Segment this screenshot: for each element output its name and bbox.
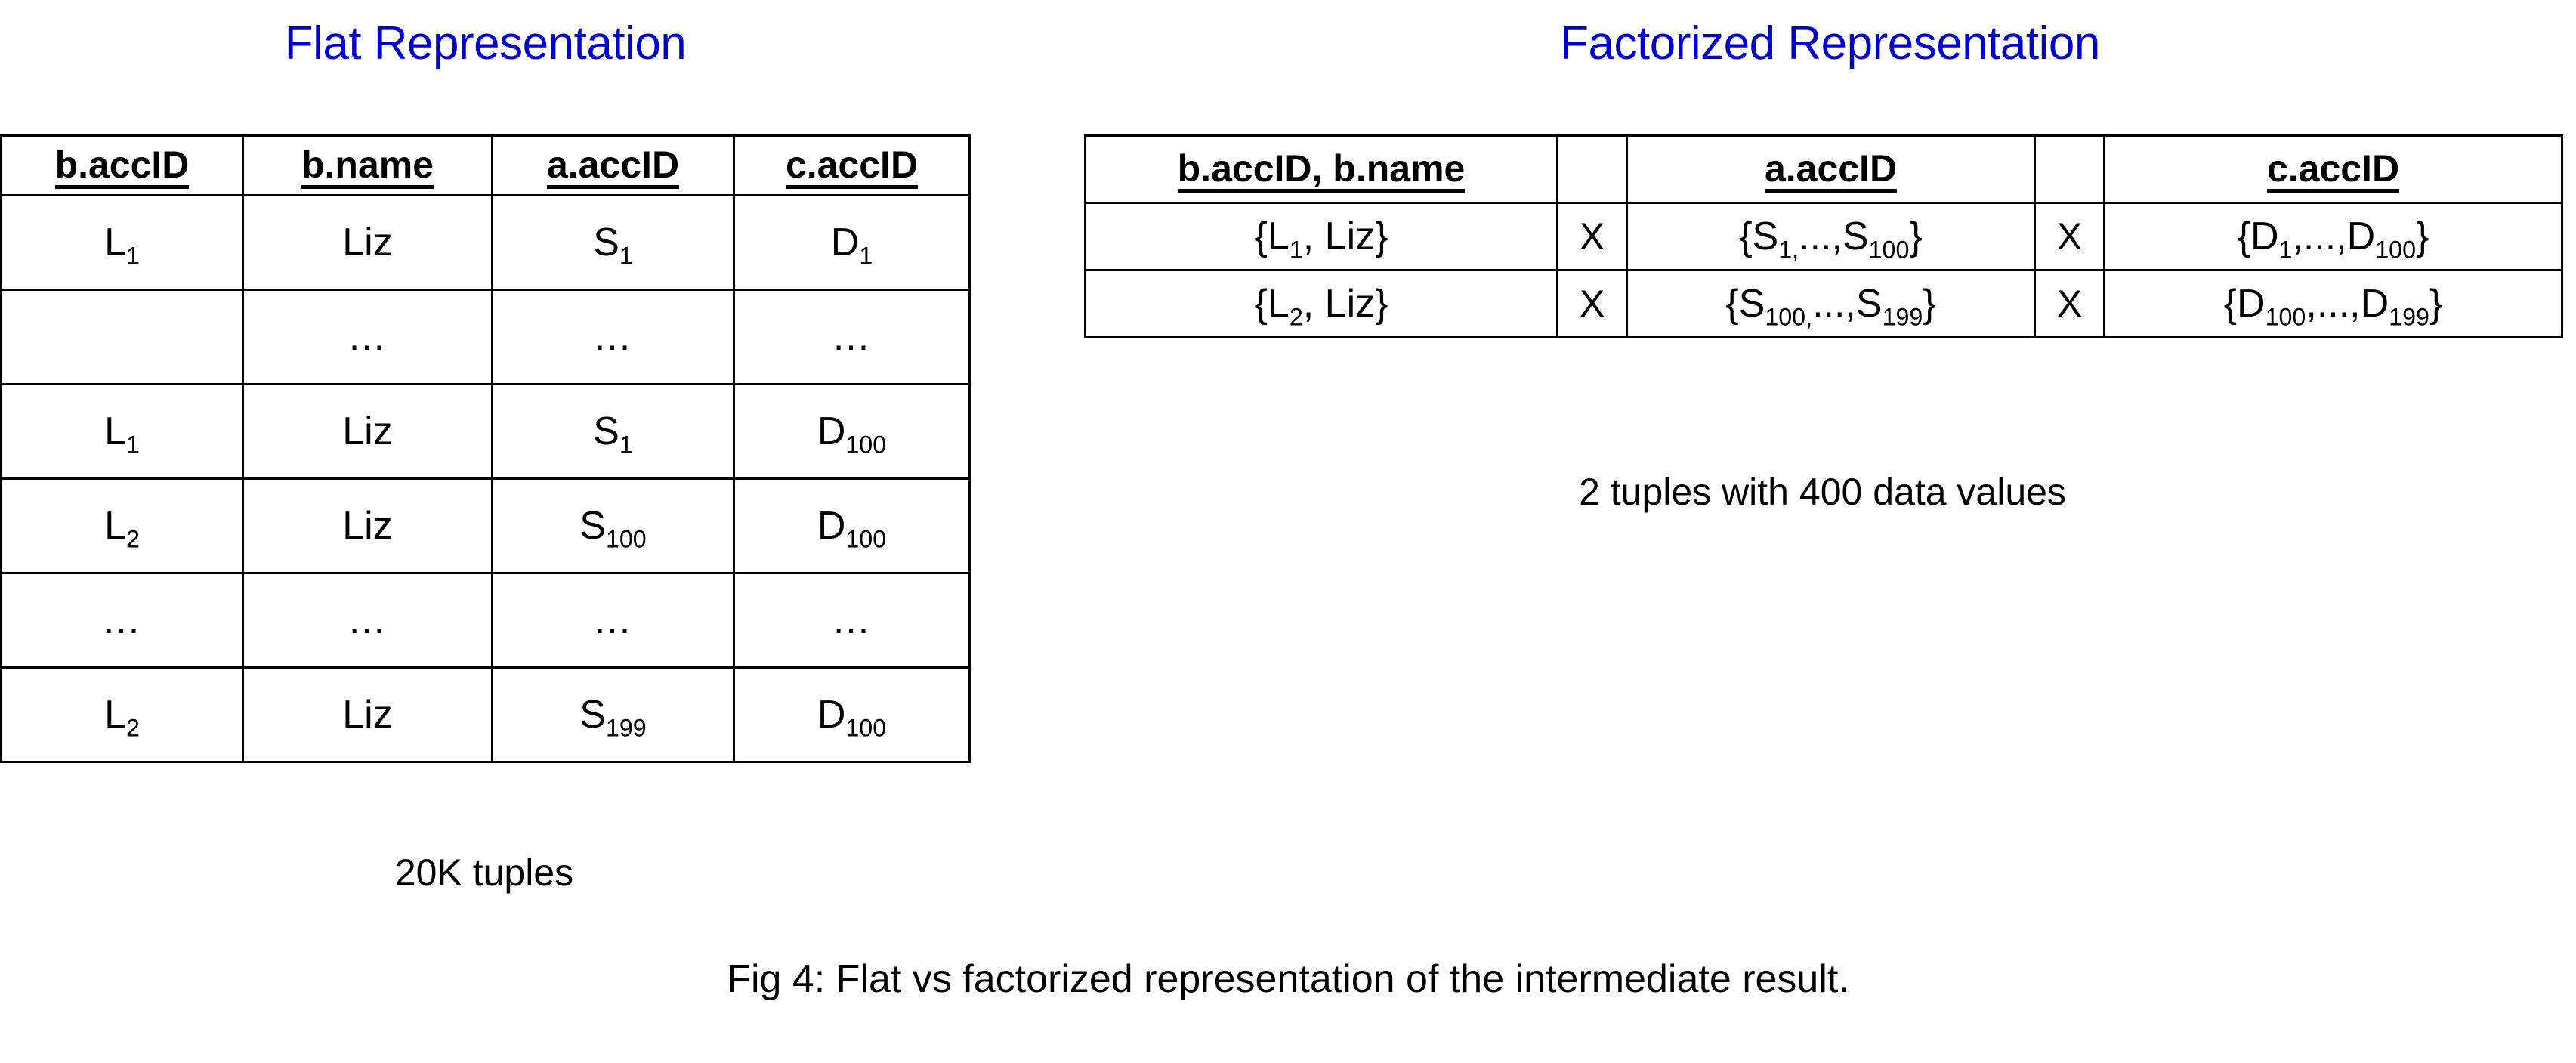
column-header-c-accid: c.accID (734, 136, 970, 196)
cell-b-accid: L2 (2, 668, 243, 762)
table-header-row: b.accID b.name a.accID c.accID (2, 136, 970, 196)
cell-base: D (817, 504, 846, 548)
table-row: ... ... ... (2, 290, 970, 385)
column-header-b-accid: b.accID (2, 136, 243, 196)
cell-subscript: 1 (619, 431, 633, 458)
cross-product-symbol: X (1580, 283, 1605, 325)
cell-b-accid: ... (2, 573, 243, 668)
cell-base: S (593, 221, 619, 264)
cell-subscript: 1 (1290, 236, 1303, 263)
column-header-label: a.accID (547, 146, 679, 189)
cell-c-accid: D1 (734, 196, 970, 290)
cell-base: Liz (342, 693, 392, 737)
factorized-representation-title: Factorized Representation (1084, 17, 2576, 70)
flat-tuple-count-label: 20K tuples (0, 851, 968, 895)
cell-tail: } (2429, 282, 2442, 326)
column-header-label: c.accID (2267, 150, 2399, 193)
cell-subscript: 1 (619, 242, 633, 269)
cell-tail: , Liz} (1303, 282, 1388, 326)
cell-product-operator: X (2035, 203, 2105, 270)
cell-subscript: 199 (606, 714, 647, 741)
column-header-label: b.accID, b.name (1178, 150, 1466, 193)
cell-base: ... (349, 315, 386, 359)
table-row: L2 Liz S100 D100 (2, 479, 970, 573)
cell-b-name: Liz (243, 385, 493, 479)
table-row: L1 Liz S1 D100 (2, 385, 970, 479)
cell-base: S (593, 409, 619, 453)
table-row: {L1, Liz} X {S1,...,S100} X {D1,...,D100… (1086, 203, 2562, 270)
cell-c-set: {D100,...,D199} (2105, 270, 2562, 338)
cell-base: ... (833, 598, 870, 642)
cell-base: S (579, 693, 606, 737)
cell-c-accid: D100 (734, 668, 970, 762)
cell-subscript: 1 (126, 431, 140, 458)
cell-a-accid: S100 (493, 479, 734, 573)
cell-base: D (831, 221, 860, 264)
cell-a-accid: ... (493, 573, 734, 668)
cell-a-accid: S1 (493, 196, 734, 290)
figure-root: Flat Representation b.accID b.name a.acc… (0, 0, 2576, 1063)
cross-product-symbol: X (2057, 283, 2082, 325)
cell-base: ... (349, 598, 386, 642)
cell-product-operator: X (2035, 270, 2105, 338)
table-row: L1 Liz S1 D1 (2, 196, 970, 290)
flat-representation-title: Flat Representation (0, 17, 971, 70)
cell-mid: ...,S (1799, 215, 1868, 258)
table-header-row: b.accID, b.name a.accID c.accID (1086, 136, 2562, 203)
cell-base: Liz (342, 409, 392, 453)
cell-base: {L (1255, 282, 1290, 326)
cross-product-symbol: X (1580, 215, 1605, 258)
cell-b-name: Liz (243, 479, 493, 573)
cell-base: Liz (342, 221, 392, 264)
figure-caption: Fig 4: Flat vs factorized representation… (0, 956, 2576, 1002)
cell-product-operator: X (1558, 270, 1627, 338)
cell-b-accid (2, 290, 243, 385)
cell-mid: ...,S (1812, 282, 1882, 326)
cell-c-set: {D1,...,D100} (2105, 203, 2562, 270)
cell-base: ... (595, 315, 632, 359)
cell-base: D (817, 409, 846, 453)
cell-subscript: 199 (1883, 303, 1923, 330)
cell-a-accid: S199 (493, 668, 734, 762)
cell-base: L (104, 221, 126, 264)
column-header-a-accid: a.accID (1627, 136, 2035, 203)
cell-product-operator: X (1558, 203, 1627, 270)
cell-base: Liz (342, 504, 392, 548)
cell-b-accid: L1 (2, 385, 243, 479)
column-header-label: c.accID (786, 146, 918, 189)
cell-c-accid: ... (734, 573, 970, 668)
cell-subscript: 100 (1869, 236, 1910, 263)
cell-b-set: {L2, Liz} (1086, 270, 1558, 338)
cell-tail: } (1909, 215, 1922, 258)
cell-subscript: 100, (1765, 303, 1812, 330)
cell-tail: , Liz} (1303, 215, 1388, 258)
cell-mid: ,...,D (2306, 282, 2389, 326)
cell-base: L (104, 693, 126, 737)
table-row: L2 Liz S199 D100 (2, 668, 970, 762)
column-header-spacer-1 (1558, 136, 1627, 203)
cell-subscript: 2 (1290, 303, 1303, 330)
cell-a-accid: ... (493, 290, 734, 385)
cell-c-accid: D100 (734, 479, 970, 573)
factorized-representation-table: b.accID, b.name a.accID c.accID {L1, Liz… (1084, 134, 2563, 338)
cell-base: ... (103, 598, 141, 642)
column-header-b-name: b.name (243, 136, 493, 196)
cell-subscript: 2 (126, 525, 140, 552)
cell-tail: } (2416, 215, 2429, 258)
cell-b-name: ... (243, 290, 493, 385)
column-header-label: b.name (301, 146, 434, 189)
column-header-a-accid: a.accID (493, 136, 734, 196)
cell-b-name: Liz (243, 668, 493, 762)
cell-base: S (579, 504, 606, 548)
column-header-label: a.accID (1765, 150, 1897, 193)
column-header-label: b.accID (55, 146, 190, 189)
cell-base: D (817, 693, 846, 737)
cell-c-accid: D100 (734, 385, 970, 479)
cell-base: {L (1255, 215, 1290, 258)
cell-subscript: 100 (2266, 303, 2306, 330)
cell-base: {D (2238, 215, 2279, 258)
cell-subscript: 2 (126, 714, 140, 741)
cell-subscript: 1 (859, 242, 873, 269)
cell-subscript: 100 (845, 431, 886, 458)
table-row: ... ... ... ... (2, 573, 970, 668)
column-header-spacer-2 (2035, 136, 2105, 203)
cell-base: {S (1725, 282, 1765, 326)
column-header-c-accid: c.accID (2105, 136, 2562, 203)
cell-base: ... (595, 598, 632, 642)
cell-mid: ,...,D (2292, 215, 2375, 258)
cell-base: ... (833, 315, 870, 359)
flat-representation-table: b.accID b.name a.accID c.accID L1 Liz S1… (0, 134, 971, 763)
cell-subscript: 100 (845, 525, 886, 552)
cell-subscript: 199 (2389, 303, 2429, 330)
cell-a-set: {S1,...,S100} (1627, 203, 2035, 270)
cell-subscript: 1 (2279, 236, 2293, 263)
cell-base: {D (2224, 282, 2266, 326)
cell-subscript: 1 (126, 242, 140, 269)
cell-subscript: 100 (845, 714, 886, 741)
cell-base: L (104, 409, 126, 453)
cell-b-name: Liz (243, 196, 493, 290)
cell-subscript: 1, (1778, 236, 1799, 263)
cell-a-set: {S100,...,S199} (1627, 270, 2035, 338)
cell-b-name: ... (243, 573, 493, 668)
cell-b-accid: L1 (2, 196, 243, 290)
cross-product-symbol: X (2057, 215, 2082, 258)
cell-tail: } (1923, 282, 1935, 326)
cell-base: {S (1739, 215, 1778, 258)
cell-b-accid: L2 (2, 479, 243, 573)
cell-subscript: 100 (2375, 236, 2416, 263)
column-header-b-accid-b-name: b.accID, b.name (1086, 136, 1558, 203)
cell-base: L (104, 504, 126, 548)
table-row: {L2, Liz} X {S100,...,S199} X {D100,...,… (1086, 270, 2562, 338)
cell-c-accid: ... (734, 290, 970, 385)
cell-subscript: 100 (606, 525, 647, 552)
cell-a-accid: S1 (493, 385, 734, 479)
factorized-tuple-count-label: 2 tuples with 400 data values (1084, 470, 2561, 514)
cell-b-set: {L1, Liz} (1086, 203, 1558, 270)
